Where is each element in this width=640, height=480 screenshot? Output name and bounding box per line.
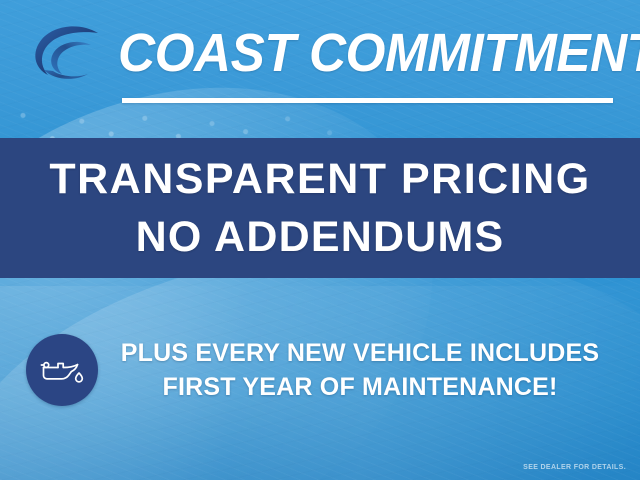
promo-line-1: PLUS EVERY NEW VEHICLE INCLUDES — [98, 336, 622, 370]
disclaimer-text: SEE DEALER FOR DETAILS. — [523, 464, 626, 471]
oil-can-badge — [26, 334, 98, 406]
header-divider — [122, 98, 613, 103]
headline-band: TRANSPARENT PRICING NO ADDENDUMS — [0, 138, 640, 278]
headline-line-2: NO ADDENDUMS — [136, 208, 505, 266]
oil-can-icon — [38, 353, 86, 387]
headline-line-1: TRANSPARENT PRICING — [49, 150, 590, 208]
coast-commitment-banner: COAST COMMITMENT TRANSPARENT PRICING NO … — [0, 0, 640, 480]
banner-header: COAST COMMITMENT — [0, 0, 640, 138]
promo-line-2: FIRST YEAR OF MAINTENANCE! — [98, 370, 622, 404]
page-title: COAST COMMITMENT — [118, 21, 597, 85]
promo-text-block: PLUS EVERY NEW VEHICLE INCLUDES FIRST YE… — [98, 336, 640, 404]
promo-row: PLUS EVERY NEW VEHICLE INCLUDES FIRST YE… — [0, 322, 640, 418]
coast-wave-logo-icon — [28, 22, 106, 84]
